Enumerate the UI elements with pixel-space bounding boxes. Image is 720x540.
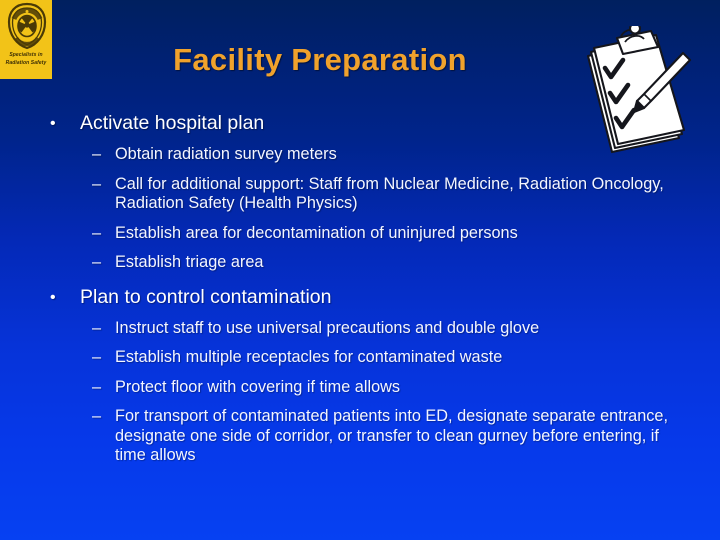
dash-marker-icon: – xyxy=(92,407,101,427)
bullet-level2-text: Call for additional support: Staff from … xyxy=(115,175,664,213)
bullet-level2-text: Protect floor with covering if time allo… xyxy=(115,378,400,396)
bullet-level2: – Instruct staff to use universal precau… xyxy=(42,319,672,339)
bullet-marker-icon: • xyxy=(50,112,56,135)
bullet-level2-text: Establish area for decontamination of un… xyxy=(115,224,518,242)
bullet-level2: – Establish area for decontamination of … xyxy=(42,224,672,244)
logo-panel: Specialists in Radiation Safety xyxy=(0,0,52,79)
bullet-level2: – Protect floor with covering if time al… xyxy=(42,378,672,398)
bullet-level2-text: For transport of contaminated patients i… xyxy=(115,407,668,464)
dash-marker-icon: – xyxy=(92,319,101,339)
group-spacer xyxy=(42,273,672,286)
dash-marker-icon: – xyxy=(92,253,101,273)
state-police-radiation-badge-icon xyxy=(5,2,49,50)
bullet-level1-text: Activate hospital plan xyxy=(80,112,264,134)
dash-marker-icon: – xyxy=(92,348,101,368)
bullet-level2: – Call for additional support: Staff fro… xyxy=(42,175,672,214)
dash-marker-icon: – xyxy=(92,224,101,244)
dash-marker-icon: – xyxy=(92,175,101,195)
bullet-level1: • Activate hospital plan xyxy=(42,112,672,135)
bullet-level2: – For transport of contaminated patients… xyxy=(42,407,672,466)
bullet-marker-icon: • xyxy=(50,286,56,309)
bullet-level2: – Establish triage area xyxy=(42,253,672,273)
bullet-level1-text: Plan to control contamination xyxy=(80,286,331,308)
bullet-level2: – Obtain radiation survey meters xyxy=(42,145,672,165)
slide: Specialists in Radiation Safety Facility… xyxy=(0,0,720,540)
logo-caption-line2: Radiation Safety xyxy=(0,60,52,68)
bullet-level2-text: Establish triage area xyxy=(115,253,263,271)
dash-marker-icon: – xyxy=(92,145,101,165)
bullet-level2-text: Establish multiple receptacles for conta… xyxy=(115,348,502,366)
bullet-level2-text: Obtain radiation survey meters xyxy=(115,145,337,163)
slide-title: Facility Preparation xyxy=(60,42,580,78)
content-list: • Activate hospital plan – Obtain radiat… xyxy=(42,112,672,466)
dash-marker-icon: – xyxy=(92,378,101,398)
logo-caption-line1: Specialists in xyxy=(0,52,52,60)
bullet-level2: – Establish multiple receptacles for con… xyxy=(42,348,672,368)
bullet-level1: • Plan to control contamination xyxy=(42,286,672,309)
bullet-level2-text: Instruct staff to use universal precauti… xyxy=(115,319,539,337)
logo-caption: Specialists in Radiation Safety xyxy=(0,52,52,67)
